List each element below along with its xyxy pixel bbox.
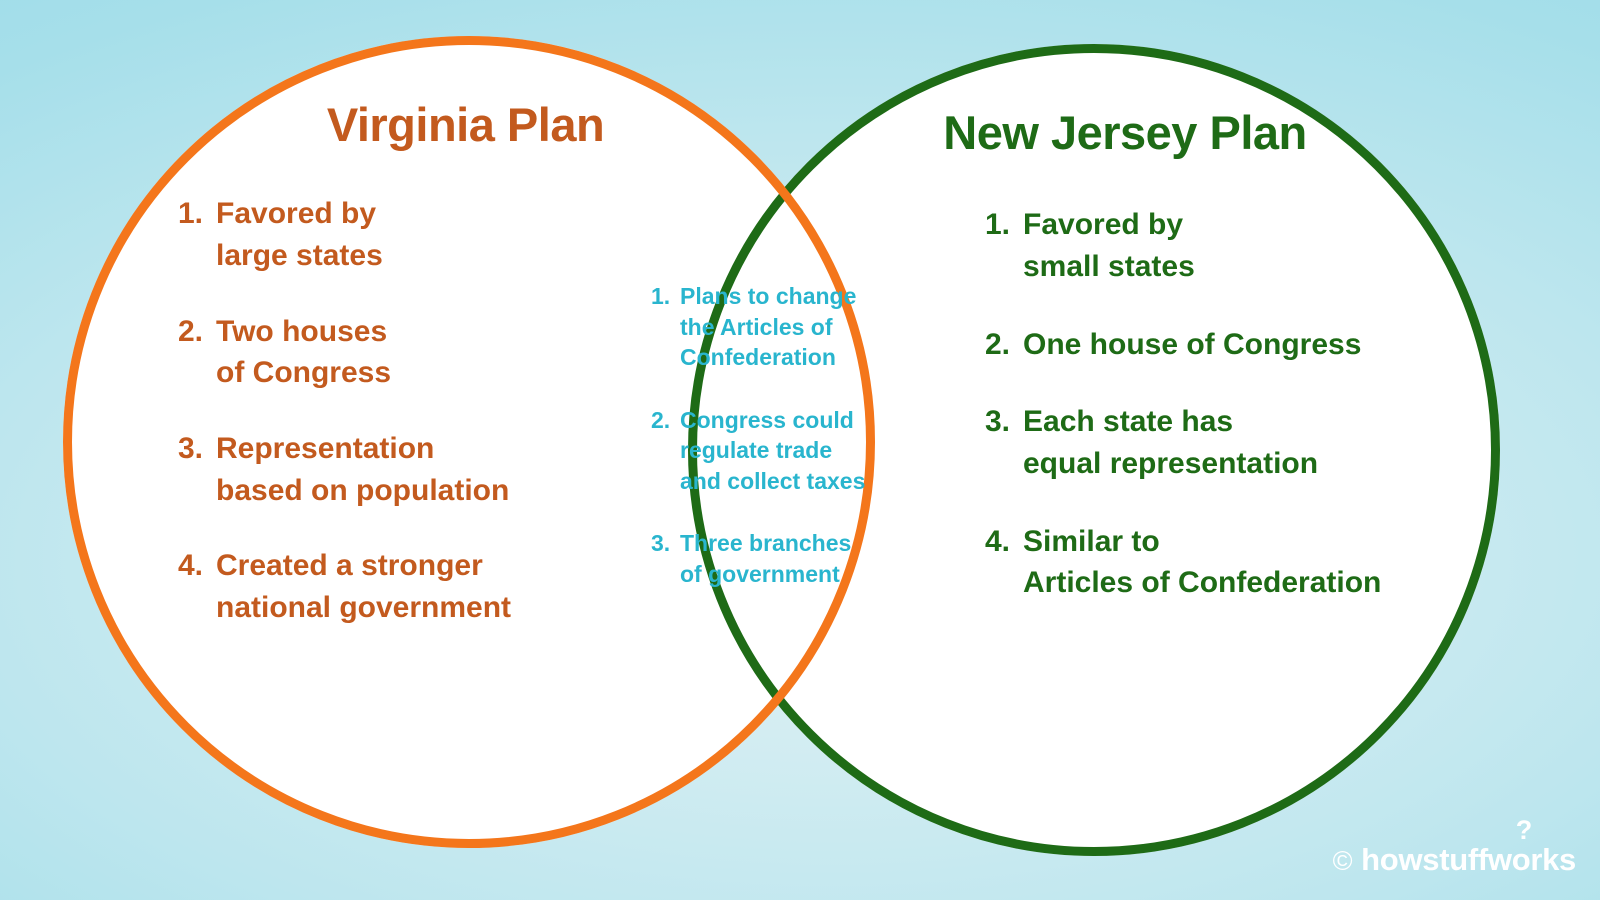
copyright-icon: ©: [1333, 846, 1353, 877]
virginia-plan-panel: Virginia Plan 1. Favored by large states…: [178, 100, 648, 663]
watermark-brand: howstuffworks: [1361, 842, 1576, 877]
list-item-text: Created a stronger national government: [216, 545, 648, 628]
list-item: 2. Two houses of Congress: [178, 311, 648, 394]
list-item-text: One house of Congress: [1023, 324, 1405, 366]
list-item-number: 1.: [651, 281, 680, 312]
list-item: 1. Favored by large states: [178, 193, 648, 276]
question-mark-icon: ?: [1516, 817, 1532, 844]
watermark-brand-wrap: ? howstuffworks: [1361, 842, 1576, 878]
list-item: 1. Favored by small states: [985, 204, 1405, 287]
list-item-number: 2.: [178, 311, 216, 353]
new-jersey-plan-panel: New Jersey Plan 1. Favored by small stat…: [845, 108, 1405, 640]
list-item-number: 1.: [985, 204, 1023, 246]
list-item-number: 2.: [985, 324, 1023, 366]
list-item: 4. Created a stronger national governmen…: [178, 545, 648, 628]
list-item-text: Two houses of Congress: [216, 311, 648, 394]
list-item-number: 2.: [651, 405, 680, 436]
watermark: © ? howstuffworks: [1333, 842, 1576, 878]
list-item: 4. Similar to Articles of Confederation: [985, 521, 1405, 604]
list-item-number: 1.: [178, 193, 216, 235]
new-jersey-plan-title: New Jersey Plan: [845, 108, 1405, 157]
list-item-number: 3.: [651, 528, 680, 559]
list-item-number: 3.: [985, 401, 1023, 443]
list-item-text: Similar to Articles of Confederation: [1023, 521, 1405, 604]
venn-diagram: Virginia Plan 1. Favored by large states…: [0, 0, 1600, 900]
list-item: 3. Each state has equal representation: [985, 401, 1405, 484]
list-item-text: Favored by small states: [1023, 204, 1405, 287]
list-item-number: 4.: [985, 521, 1023, 563]
list-item: 3. Representation based on population: [178, 428, 648, 511]
list-item-text: Each state has equal representation: [1023, 401, 1405, 484]
new-jersey-plan-list: 1. Favored by small states 2. One house …: [845, 204, 1405, 604]
list-item-number: 3.: [178, 428, 216, 470]
virginia-plan-list: 1. Favored by large states 2. Two houses…: [178, 193, 648, 629]
virginia-plan-title: Virginia Plan: [283, 100, 648, 149]
list-item-number: 4.: [178, 545, 216, 587]
list-item-text: Favored by large states: [216, 193, 648, 276]
list-item: 2. One house of Congress: [985, 324, 1405, 366]
list-item-text: Representation based on population: [216, 428, 648, 511]
